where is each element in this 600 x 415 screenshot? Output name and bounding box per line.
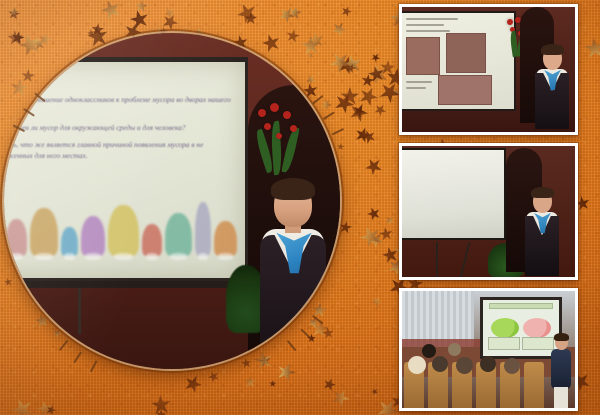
photo-panel-3[interactable] [399,288,578,411]
slide-character [6,219,27,256]
audience-head [432,356,448,372]
slide-character [108,205,139,256]
photo-content: Задачи: Выяснить отношение однокласснико… [4,33,340,369]
pie-chart-right [523,318,551,338]
screen-bottom-bar [4,281,248,288]
audience-head [504,358,520,374]
slide-character [214,221,237,256]
slide-character [142,224,162,256]
audience-head [456,357,473,374]
photo-panel-1[interactable] [399,4,578,135]
panel-2-presenter [524,190,560,276]
slide-character [195,202,211,256]
main-circular-photo[interactable]: Задачи: Выяснить отношение однокласснико… [4,33,340,369]
panel-1-image [402,7,575,132]
collage-canvas: Задачи: Выяснить отношение однокласснико… [0,0,600,415]
slide-character [81,216,105,256]
panel-2-image [402,146,575,277]
pie-chart-left [491,318,519,338]
audience-head [408,356,426,374]
slide-body: Выяснить отношение одноклассников к проб… [4,94,237,167]
slide-line: Чем опасен ли мусор для окружающей среды… [4,122,237,133]
presenter-hair [271,178,315,200]
slide-line: Узнать, что же является главной причиной… [4,139,237,161]
projector-screen: Задачи: Выяснить отношение однокласснико… [4,57,248,281]
slide-character [61,227,78,256]
panel-1-presenter [534,47,570,129]
presenter-figure [258,183,334,355]
audience-head [422,344,436,358]
slide-title: Задачи: [11,74,235,84]
audience-head [448,343,461,356]
photo-panel-2[interactable] [399,143,578,280]
slide-illustration [4,194,225,256]
panel-3-image [402,291,575,408]
panel-2-stand-leg [436,242,438,277]
panel-1-projector-screen [402,11,516,111]
panel-2-projector-screen [402,148,506,240]
panel-3-wall-stripe [402,339,488,347]
audience-head [480,356,496,372]
slide-line: Выяснить отношение одноклассников к проб… [4,94,237,116]
audience-chairs [402,348,575,408]
slide-character [30,208,58,256]
slide-character [165,213,192,256]
screen-stand-leg [78,288,81,334]
